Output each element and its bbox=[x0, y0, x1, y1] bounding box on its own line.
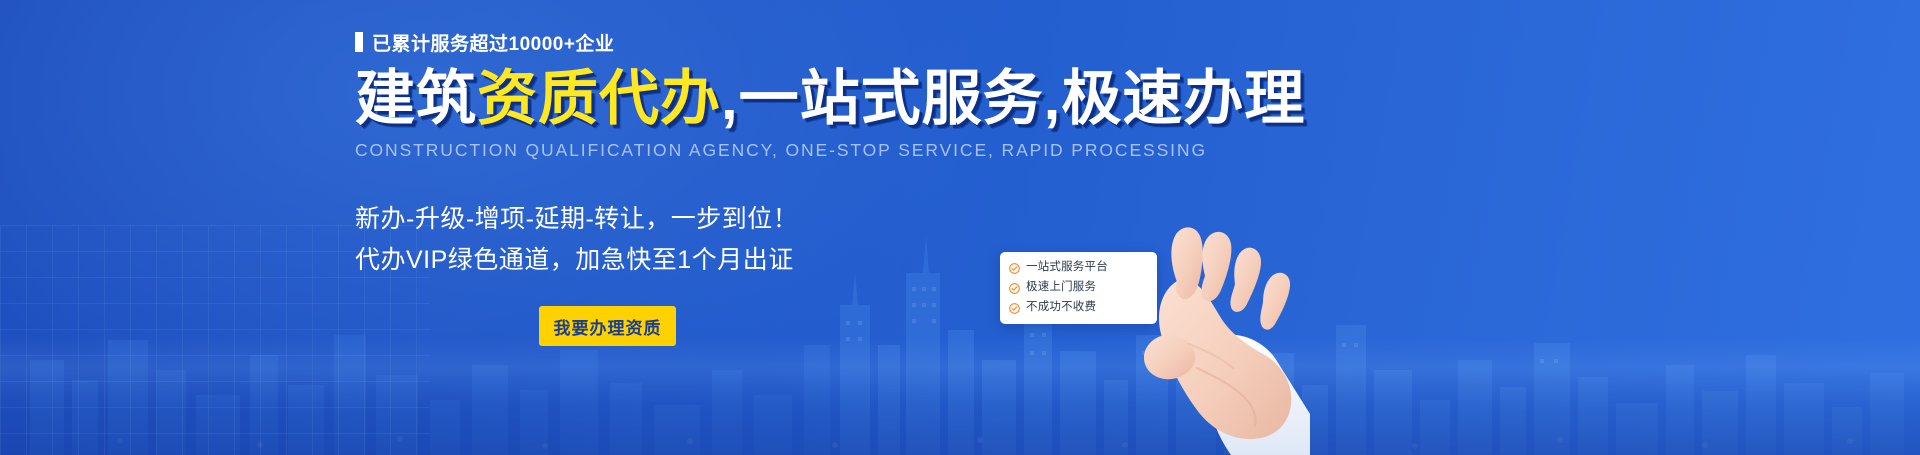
hero-banner: 已累计服务超过10000+企业 建筑资质代办,一站式服务,极速办理 CONSTR… bbox=[0, 0, 1920, 455]
subtitle-english: CONSTRUCTION QUALIFICATION AGENCY, ONE-S… bbox=[355, 140, 1175, 161]
feature-label: 极速上门服务 bbox=[1026, 282, 1096, 294]
description-line-1: 新办-升级-增项-延期-转让，一步到位！ bbox=[355, 199, 1175, 240]
feature-item: 极速上门服务 bbox=[1009, 279, 1148, 297]
feature-item: 一站式服务平台 bbox=[1009, 259, 1148, 277]
headline-part-2: ,一站式服务,极速办理 bbox=[721, 65, 1305, 132]
check-circle-icon bbox=[1009, 263, 1020, 274]
feature-card: 一站式服务平台 极速上门服务 不成功不收费 bbox=[1000, 252, 1157, 324]
apply-qualification-button[interactable]: 我要办理资质 bbox=[539, 306, 676, 346]
feature-item: 不成功不收费 bbox=[1009, 299, 1148, 317]
check-circle-icon bbox=[1009, 303, 1020, 314]
square-marker-icon bbox=[355, 32, 363, 52]
headline-part-1: 建筑 bbox=[355, 65, 477, 132]
page-title: 建筑资质代办,一站式服务,极速办理 bbox=[355, 68, 1175, 130]
eyebrow-row: 已累计服务超过10000+企业 bbox=[355, 30, 1175, 54]
check-circle-icon bbox=[1009, 283, 1020, 294]
banner-content: 已累计服务超过10000+企业 建筑资质代办,一站式服务,极速办理 CONSTR… bbox=[355, 0, 1175, 455]
feature-label: 一站式服务平台 bbox=[1026, 262, 1108, 274]
feature-label: 不成功不收费 bbox=[1026, 302, 1096, 314]
eyebrow-text: 已累计服务超过10000+企业 bbox=[372, 29, 614, 56]
headline-accent: 资质代办 bbox=[477, 65, 721, 132]
